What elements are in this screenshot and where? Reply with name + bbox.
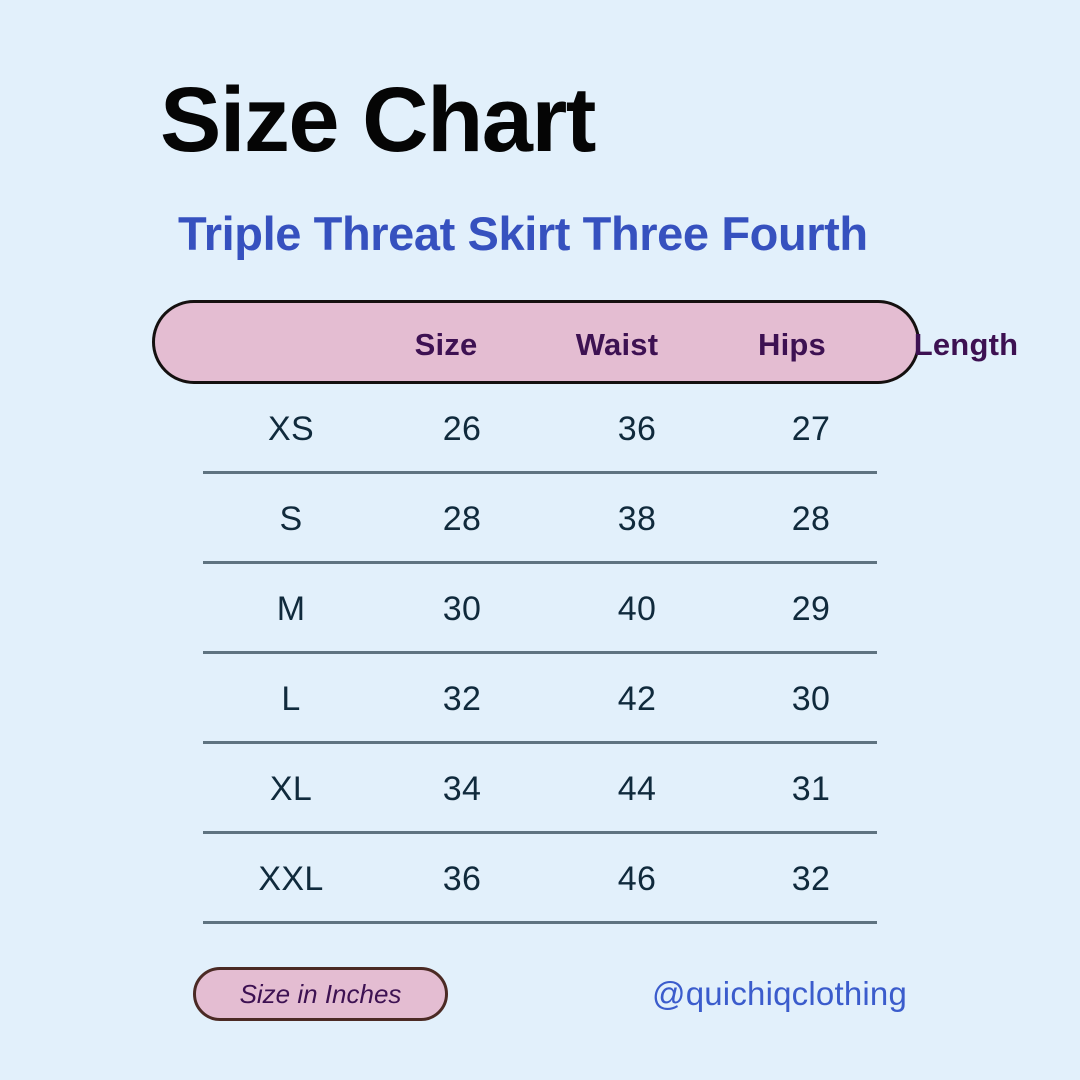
cell-size: M <box>201 564 381 654</box>
cell-waist: 34 <box>372 744 552 834</box>
table-row: L 32 42 30 <box>0 654 1080 744</box>
cell-hips: 42 <box>547 654 727 744</box>
cell-waist: 26 <box>372 384 552 474</box>
table-row: S 28 38 28 <box>0 474 1080 564</box>
cell-size: XS <box>201 384 381 474</box>
unit-badge: Size in Inches <box>193 967 448 1021</box>
cell-hips: 36 <box>547 384 727 474</box>
cell-hips: 40 <box>547 564 727 654</box>
page-title: Size Chart <box>160 72 595 169</box>
table-row: XXL 36 46 32 <box>0 834 1080 924</box>
cell-waist: 32 <box>372 654 552 744</box>
table-body: XS 26 36 27 S 28 38 28 M 30 40 29 L 32 4… <box>0 384 1080 924</box>
page-subtitle: Triple Threat Skirt Three Fourth <box>178 208 868 260</box>
cell-hips: 46 <box>547 834 727 924</box>
cell-length: 29 <box>721 564 901 654</box>
table-row: XS 26 36 27 <box>0 384 1080 474</box>
cell-size: S <box>201 474 381 564</box>
column-header-size: Size <box>356 303 536 387</box>
cell-size: XXL <box>201 834 381 924</box>
cell-length: 32 <box>721 834 901 924</box>
cell-waist: 36 <box>372 834 552 924</box>
cell-hips: 38 <box>547 474 727 564</box>
column-header-length: Length <box>876 303 1056 387</box>
size-chart-page: Size Chart Triple Threat Skirt Three Fou… <box>0 0 1080 1080</box>
cell-length: 30 <box>721 654 901 744</box>
table-header-row: Size Waist Hips Length <box>152 300 920 384</box>
cell-hips: 44 <box>547 744 727 834</box>
row-divider <box>203 921 877 924</box>
cell-waist: 28 <box>372 474 552 564</box>
table-row: XL 34 44 31 <box>0 744 1080 834</box>
table-row: M 30 40 29 <box>0 564 1080 654</box>
cell-length: 27 <box>721 384 901 474</box>
column-header-hips: Hips <box>702 303 882 387</box>
cell-size: L <box>201 654 381 744</box>
brand-handle: @quichiqclothing <box>652 975 907 1013</box>
cell-waist: 30 <box>372 564 552 654</box>
cell-length: 28 <box>721 474 901 564</box>
cell-length: 31 <box>721 744 901 834</box>
column-header-waist: Waist <box>527 303 707 387</box>
cell-size: XL <box>201 744 381 834</box>
